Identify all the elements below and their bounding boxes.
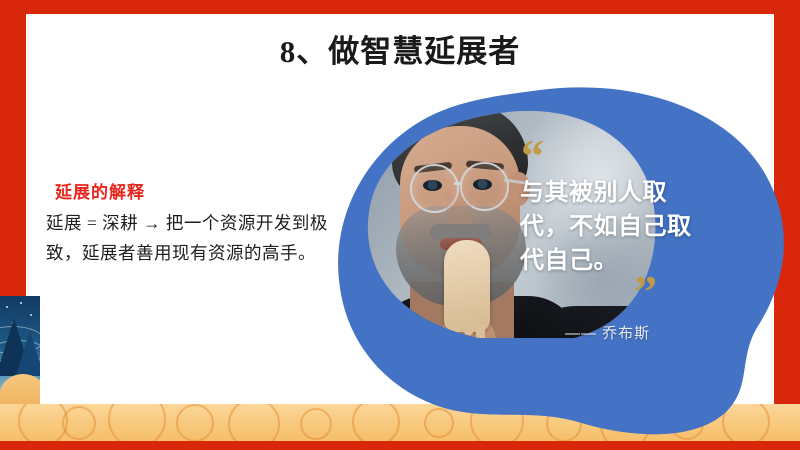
explanation-heading: 延展的解释	[55, 178, 145, 203]
explanation-body: 延展 = 深耕 → 把一个资源开发到极致，延展者善用现有资源的高手。	[46, 208, 334, 268]
mountain-decoration	[0, 296, 40, 408]
slide-canvas: 8、做智慧延展者 延展的解释 延展 = 深耕 → 把一个资源开发到极致，延展者善…	[0, 0, 800, 450]
slide-title: 8、做智慧延展者	[0, 26, 800, 71]
closing-quote-mark: ”	[634, 274, 655, 311]
quote-attribution: —— 乔布斯	[565, 322, 650, 343]
quote-text: 与其被别人取代，不如自己取代自己。	[520, 176, 702, 278]
opening-quote-mark: “	[521, 138, 542, 175]
